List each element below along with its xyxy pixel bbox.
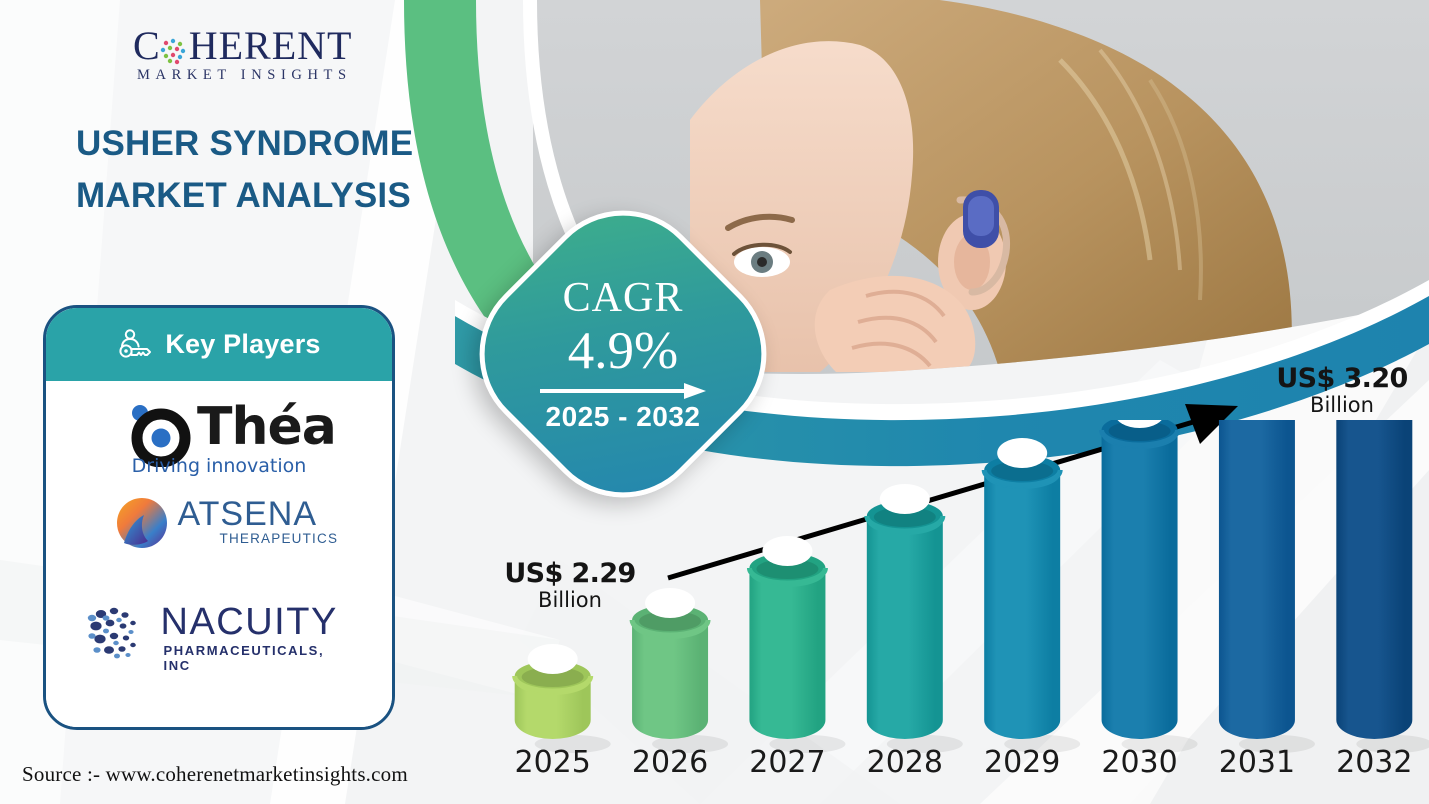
bar-2030 <box>1102 420 1198 753</box>
source-line: Source :- www.coherenetmarketinsights.co… <box>22 762 408 787</box>
page-title: USHER SYNDROME MARKET ANALYSIS <box>76 118 476 222</box>
nacuity-tagline: PHARMACEUTICALS, INC <box>164 643 352 673</box>
logo-tagline: MARKET INSIGHTS <box>137 67 393 84</box>
page-title-line2: MARKET ANALYSIS <box>76 170 476 222</box>
end-value-callout: US$ 3.20 Billion <box>1262 363 1422 417</box>
atsena-wordmark: ATSENA <box>178 495 318 534</box>
logo-globe-icon <box>158 35 188 65</box>
thea-tagline: Driving innovation <box>121 455 317 477</box>
list-item[interactable]: NACUITY PHARMACEUTICALS, INC <box>46 599 392 667</box>
nacuity-wordmark: NACUITY <box>161 601 338 644</box>
key-players-list: Théa Driving innovation <box>46 381 392 730</box>
bar-2025 <box>515 644 611 753</box>
x-tick-2031: 2031 <box>1202 745 1312 780</box>
key-players-card: Key Players Théa Driving innovation <box>43 305 395 730</box>
x-tick-2030: 2030 <box>1085 745 1195 780</box>
x-tick-2028: 2028 <box>850 745 960 780</box>
infographic-canvas: C HERENT MARKET INSIGHTS USHER SYNDROME … <box>0 0 1429 804</box>
x-tick-2029: 2029 <box>967 745 1077 780</box>
bar-2028 <box>867 484 963 753</box>
key-players-header: Key Players <box>46 308 392 381</box>
atsena-wave-icon <box>114 495 170 551</box>
x-tick-2026: 2026 <box>615 745 725 780</box>
logo-wordmark: HERENT <box>189 26 353 66</box>
cagr-value: 4.9% <box>568 322 678 380</box>
thea-wordmark: Théa <box>197 397 336 457</box>
bar-2031 <box>1219 420 1315 753</box>
x-tick-2032: 2032 <box>1319 745 1429 780</box>
key-players-title: Key Players <box>165 329 320 360</box>
end-value: US$ 3.20 <box>1262 363 1422 394</box>
bar-2032 <box>1336 420 1429 753</box>
list-item[interactable]: Théa Driving innovation <box>46 391 392 479</box>
bar-2029 <box>984 438 1080 753</box>
page-title-line1: USHER SYNDROME <box>76 118 476 170</box>
company-logo: C HERENT MARKET INSIGHTS <box>133 26 393 88</box>
atsena-tagline: THERAPEUTICS <box>220 531 339 546</box>
list-item[interactable]: ATSENA THERAPEUTICS <box>46 491 392 553</box>
logo-letter-c: C <box>133 26 161 66</box>
cagr-label: CAGR <box>563 275 684 321</box>
x-tick-2027: 2027 <box>732 745 842 780</box>
nacuity-dots-icon <box>87 605 149 661</box>
end-unit: Billion <box>1262 393 1422 417</box>
bar-2026 <box>632 588 728 753</box>
bar-2027 <box>749 536 845 753</box>
cagr-arrow-icon <box>538 382 708 400</box>
key-person-icon <box>117 329 155 361</box>
x-tick-2025: 2025 <box>498 745 608 780</box>
